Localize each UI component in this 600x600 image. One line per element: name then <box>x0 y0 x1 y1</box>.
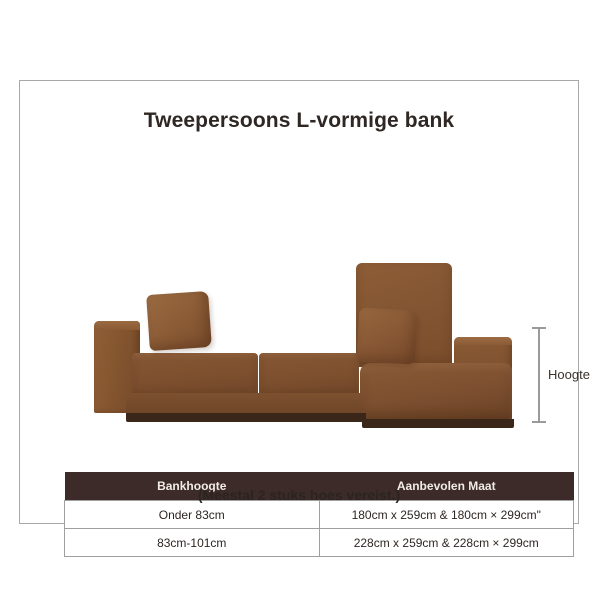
throw-pillow <box>357 308 418 365</box>
height-dimension-line-icon <box>532 327 546 423</box>
dimension-cap-bottom <box>532 421 546 423</box>
sofa-illustration <box>80 241 520 431</box>
height-dimension-label: Hoogte <box>548 367 590 382</box>
cell-aanbevolen-maat: 180cm x 259cm & 180cm × 299cm" <box>319 501 574 529</box>
sofa-left-arm-top <box>94 321 140 330</box>
dimension-line <box>538 327 540 423</box>
sofa-right-arm-top <box>454 337 512 345</box>
cell-aanbevolen-maat: 228cm x 259cm & 228cm × 299cm <box>319 529 574 557</box>
footer-note: (Meestal 2 stuks hoes vereist.) <box>20 487 578 503</box>
chaise-base <box>362 419 514 428</box>
table-row: 83cm-101cm 228cm x 259cm & 228cm × 299cm <box>65 529 574 557</box>
sofa-front-panel <box>126 393 364 415</box>
cell-bankhoogte: 83cm-101cm <box>65 529 320 557</box>
cell-bankhoogte: Onder 83cm <box>65 501 320 529</box>
throw-pillow <box>146 291 212 351</box>
size-table: Bankhoogte Aanbevolen Maat Onder 83cm 18… <box>64 472 574 557</box>
page-title: Tweepersoons L-vormige bank <box>20 109 578 133</box>
size-guide-card: Tweepersoons L-vormige bank Hoogte Bankh… <box>19 80 579 524</box>
sofa-base <box>126 413 366 422</box>
chaise-seat <box>360 363 512 421</box>
table-row: Onder 83cm 180cm x 259cm & 180cm × 299cm… <box>65 501 574 529</box>
